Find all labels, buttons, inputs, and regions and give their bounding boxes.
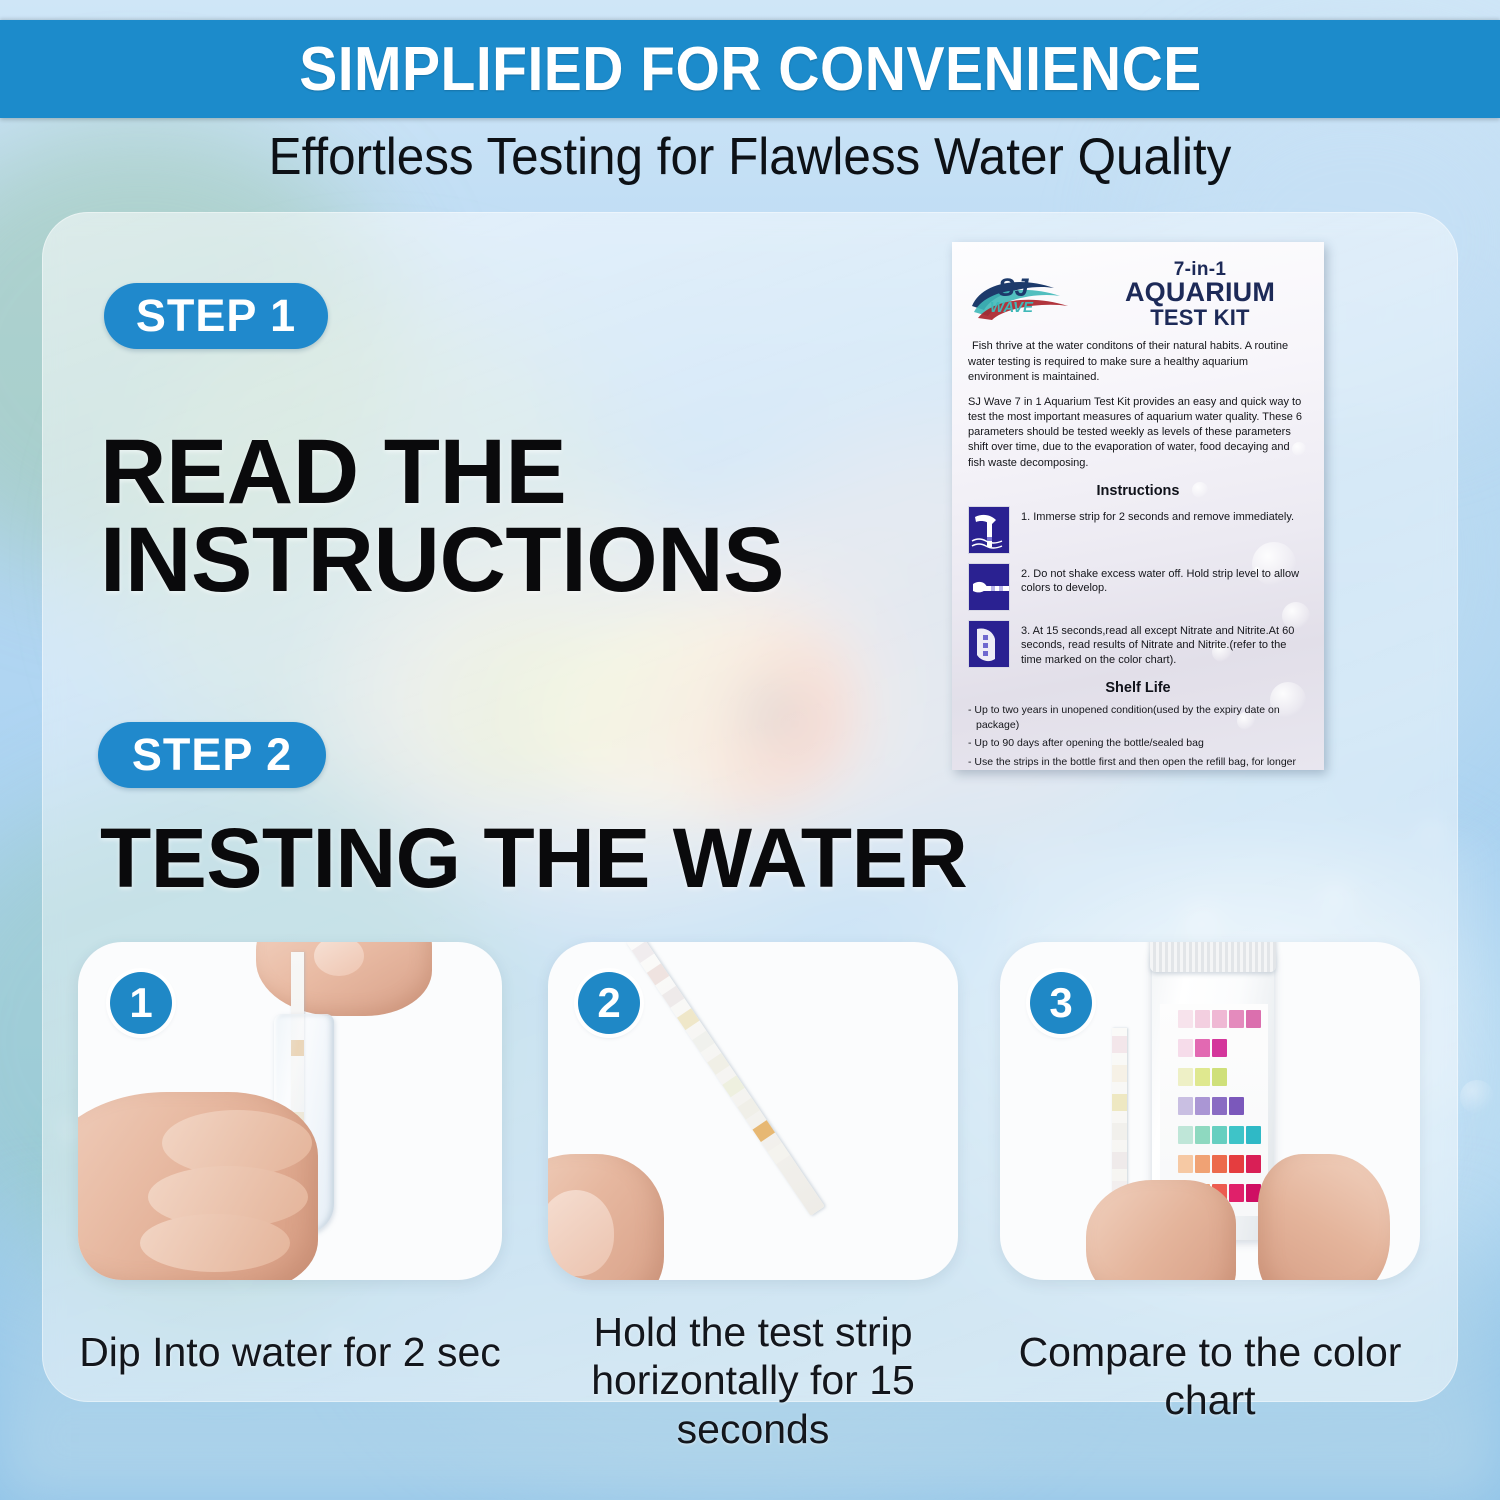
color-chart-swatch — [1178, 1068, 1193, 1086]
color-chart-swatch — [1195, 1068, 1210, 1086]
color-chart-row — [1178, 1097, 1244, 1115]
bottle-cap — [1150, 942, 1276, 972]
svg-text:SJ: SJ — [998, 274, 1030, 302]
color-chart-swatch — [1246, 1126, 1261, 1144]
color-chart-swatch — [1178, 1097, 1193, 1115]
card-number-badge-3: 3 — [1030, 972, 1092, 1034]
step-badge-1: STEP 1 — [104, 283, 328, 349]
leaflet-title-sub: TEST KIT — [1092, 307, 1308, 329]
color-chart-swatch — [1212, 1068, 1227, 1086]
test-strip-pad — [1112, 1094, 1127, 1111]
color-chart-swatch — [1178, 1039, 1193, 1057]
test-strip-pad — [662, 986, 684, 1008]
test-strip-pad — [707, 1053, 729, 1075]
test-strip-pad — [692, 1031, 714, 1053]
color-chart-swatch — [1195, 1097, 1210, 1115]
hand-dipping-strip-icon — [968, 506, 1010, 554]
color-chart-swatch — [1178, 1155, 1193, 1173]
right-hand — [1258, 1154, 1390, 1280]
finger — [140, 1214, 290, 1272]
color-chart-swatch — [1229, 1155, 1244, 1173]
leaflet-title-block: 7-in-1 AQUARIUM TEST KIT — [1092, 260, 1308, 329]
instruction-row: 1. Immerse strip for 2 seconds and remov… — [968, 506, 1308, 554]
test-strip-pad — [768, 1142, 790, 1164]
header-banner: SIMPLIFIED FOR CONVENIENCE — [0, 20, 1500, 118]
color-chart-swatch — [1212, 1155, 1227, 1173]
color-chart-swatch — [1212, 1039, 1227, 1057]
instruction-row: 3. At 15 seconds,read all except Nitrate… — [968, 620, 1308, 668]
card-number-badge-2: 2 — [578, 972, 640, 1034]
page-subtitle: Effortless Testing for Flawless Water Qu… — [38, 120, 1463, 194]
svg-text:WAVE: WAVE — [990, 299, 1034, 316]
step-heading-1-line1: READ THE — [100, 428, 784, 516]
color-chart-swatch — [1229, 1126, 1244, 1144]
step-heading-2: TESTING THE WATER — [100, 818, 967, 899]
color-chart-row — [1178, 1039, 1227, 1057]
sj-wave-logo: SJ WAVE — [968, 266, 1086, 324]
color-chart-swatch — [1229, 1010, 1244, 1028]
test-strip-pad — [647, 963, 669, 985]
card-caption-3: Compare to the color chart — [995, 1328, 1425, 1425]
shelf-life-item: - Up to two years in unopened condition(… — [968, 703, 1308, 732]
color-chart-swatch — [1212, 1126, 1227, 1144]
leaflet-title-main: AQUARIUM — [1092, 279, 1308, 307]
instruction-text: 1. Immerse strip for 2 seconds and remov… — [1021, 506, 1294, 525]
color-chart-swatch — [1246, 1155, 1261, 1173]
color-chart-swatch — [1195, 1039, 1210, 1057]
color-chart-swatch — [1178, 1126, 1193, 1144]
leaflet-header: SJ WAVE 7-in-1 AQUARIUM TEST KIT — [968, 260, 1308, 329]
left-hand — [1086, 1180, 1236, 1280]
step-heading-1-line2: INSTRUCTIONS — [100, 516, 784, 604]
test-strip — [626, 942, 825, 1216]
instruction-number: 3. — [1021, 625, 1030, 637]
color-chart-swatch — [1229, 1184, 1244, 1202]
page-title: SIMPLIFIED FOR CONVENIENCE — [299, 34, 1201, 105]
leaflet-paragraph-2: SJ Wave 7 in 1 Aquarium Test Kit provide… — [968, 395, 1308, 471]
hand-comparing-chart-icon — [968, 620, 1010, 668]
bubble — [1460, 1080, 1494, 1114]
card-number-badge-1: 1 — [110, 972, 172, 1034]
color-chart-swatch — [1212, 1097, 1227, 1115]
leaflet-shelf-heading: Shelf Life — [968, 680, 1308, 696]
instruction-body: Immerse strip for 2 seconds and remove i… — [1033, 511, 1294, 523]
color-chart-swatch — [1229, 1097, 1244, 1115]
instruction-body: Do not shake excess water off. Hold stri… — [1021, 568, 1299, 595]
shelf-life-item: - Up to 90 days after opening the bottle… — [968, 736, 1308, 751]
color-chart-swatch — [1195, 1010, 1210, 1028]
hand-holding-strip-level-icon — [968, 563, 1010, 611]
instruction-number: 1. — [1021, 511, 1030, 523]
leaflet-paragraph-1: Fish thrive at the water conditons of th… — [968, 339, 1308, 385]
leaflet-instructions-heading: Instructions — [968, 483, 1308, 499]
test-strip-pad — [1112, 1065, 1127, 1082]
step-heading-1: READ THE INSTRUCTIONS — [100, 428, 784, 605]
instruction-leaflet: SJ WAVE 7-in-1 AQUARIUM TEST KIT Fish th… — [952, 242, 1324, 770]
instruction-text: 3. At 15 seconds,read all except Nitrate… — [1021, 620, 1308, 668]
test-strip-pad — [1112, 1036, 1127, 1053]
card-caption-2: Hold the test strip horizontally for 15 … — [528, 1308, 978, 1453]
color-chart-row — [1178, 1010, 1261, 1028]
color-chart-row — [1178, 1155, 1261, 1173]
card-caption-1: Dip Into water for 2 sec — [78, 1328, 502, 1376]
color-chart-row — [1178, 1126, 1261, 1144]
test-strip-pad — [737, 1098, 759, 1120]
shelf-life-list: - Up to two years in unopened condition(… — [968, 703, 1308, 770]
test-strip-pad — [722, 1075, 744, 1097]
instruction-text: 2. Do not shake excess water off. Hold s… — [1021, 563, 1308, 596]
color-chart-swatch — [1178, 1010, 1193, 1028]
color-chart-swatch — [1212, 1010, 1227, 1028]
test-strip-pad — [632, 942, 654, 963]
test-strip-pad — [753, 1120, 775, 1142]
color-chart-row — [1178, 1068, 1227, 1086]
instruction-body: At 15 seconds,read all except Nitrate an… — [1021, 625, 1294, 666]
color-chart-swatch — [1246, 1010, 1261, 1028]
color-chart-swatch — [1195, 1126, 1210, 1144]
color-chart-swatch — [1195, 1155, 1210, 1173]
step-badge-2: STEP 2 — [98, 722, 326, 788]
test-strip-pad — [677, 1008, 699, 1030]
instruction-row: 2. Do not shake excess water off. Hold s… — [968, 563, 1308, 611]
test-strip-pad — [1112, 1123, 1127, 1140]
test-strip-pad — [1112, 1152, 1127, 1169]
shelf-life-item: - Use the strips in the bottle first and… — [968, 755, 1308, 770]
instruction-number: 2. — [1021, 568, 1030, 580]
